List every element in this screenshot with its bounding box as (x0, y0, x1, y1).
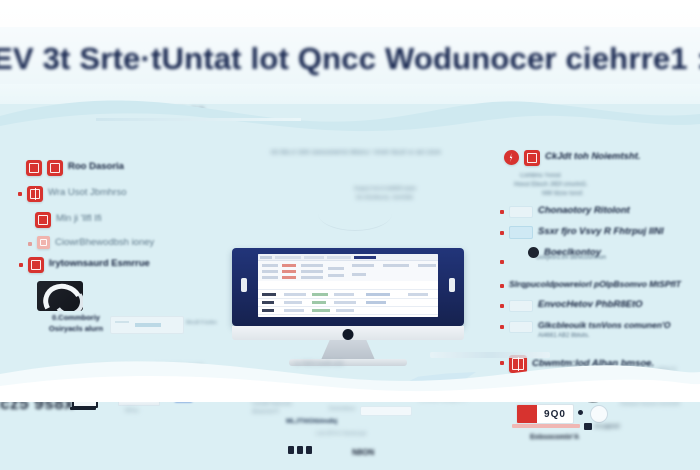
tab-item (304, 256, 324, 260)
ribbon-control (301, 264, 323, 267)
red-card-block (517, 405, 537, 423)
grid-line (258, 306, 438, 307)
ribbon-control (262, 264, 278, 267)
badge-label: 0.Commboriy Osiryacls alurn (31, 312, 121, 334)
ribbon-control (262, 270, 278, 273)
list-item[interactable]: Irytownsaurd Esmrrue (19, 257, 150, 273)
list-item[interactable]: Glkcbleouik tsnVons comunen'O Al4661 AB2… (500, 319, 671, 341)
tab-item (327, 256, 351, 260)
left-item-0-text: Roo Dasoria (68, 160, 124, 173)
bullet-dot-icon (500, 284, 504, 288)
grid-cell (334, 293, 354, 296)
list-item-title: Ssxr fjro Vsvy R Fhtrpuj IlNl (538, 225, 664, 238)
app-ribbon-toolbar (258, 261, 438, 282)
blue-pill-icon (509, 226, 533, 239)
grid-line (258, 289, 438, 290)
bullet-dot-icon (28, 242, 32, 246)
right-item-6-text: Glkcbleouik tsnVons comunen'O Al4661 AB2… (538, 319, 671, 341)
ribbon-control (282, 264, 296, 267)
right-item-3-title-wrap: Boeclkontoy (544, 246, 601, 259)
grid-cell (262, 293, 276, 296)
list-item-sub: hlW tilzov tsnsf. (542, 190, 584, 199)
list-item-title: Roo Dasoria (68, 160, 124, 173)
center-caption-sub-1: Hugryt hmi.it bdtfdlf.mptw (300, 185, 470, 194)
red-circle-bolt-icon (504, 150, 519, 165)
list-item[interactable]: Wra Usot Jbmhrso (18, 186, 126, 202)
left-item-4-text: Irytownsaurd Esmrrue (49, 257, 150, 270)
red-small-square-icon (37, 236, 50, 249)
export-label: 8 Eaprort (595, 424, 620, 430)
list-item-title: Boeclkontoy (544, 246, 601, 259)
page-title: EV 3t Srte·tUntat lot Qncc Wodunocer cie… (0, 38, 700, 80)
grid-cell (408, 293, 428, 296)
grid-cell (262, 309, 274, 312)
monitor-side-panel-right (449, 278, 455, 292)
red-square-icon (28, 257, 44, 273)
ribbon-control (282, 276, 296, 279)
grid-cell (334, 301, 356, 304)
title-underline (96, 118, 301, 121)
monitor-logo-dot (343, 329, 354, 340)
ribbon-control (282, 270, 296, 273)
app-data-grid (258, 281, 438, 317)
bullet-dot-icon (500, 304, 504, 308)
list-item-title: Irytownsaurd Esmrrue (49, 257, 150, 270)
grid-cell (366, 301, 386, 304)
ribbon-control (418, 264, 436, 267)
wave-divider-top (0, 86, 700, 146)
left-item-3-text: CiowrBhewodbsh ioney (55, 236, 154, 249)
glyph-icon (288, 446, 294, 454)
right-item-1-text: Chonaotory Ritolont (538, 204, 630, 217)
badge-label-line1: 0.Commboriy (31, 312, 121, 323)
list-item[interactable]: CiowrBhewodbsh ioney (28, 236, 154, 249)
ghost-pill-icon (509, 321, 533, 333)
app-tab-bar (258, 254, 438, 261)
text-input-field[interactable] (360, 406, 412, 416)
bullet-dot-icon (500, 210, 504, 214)
list-item-sub: Al4661 AB2 8blsits. (538, 332, 671, 341)
desktop-monitor-illustration (232, 248, 464, 326)
tab-item (275, 256, 301, 260)
badge-label-line2: Osiryacls alurn (31, 323, 121, 334)
monitor-screen (258, 254, 438, 317)
red-card-number: 9Q0 (537, 405, 573, 423)
red-square-icon (35, 212, 51, 228)
ghost-pill-icon (509, 206, 533, 218)
grid-cell (312, 293, 328, 296)
list-item[interactable]: Ssxr fjro Vsvy R Fhtrpuj IlNl (500, 225, 664, 239)
card-dot-icon (578, 410, 583, 415)
list-item[interactable]: EnvocHetov PhbR8EtO (500, 298, 643, 312)
tab-item (260, 256, 272, 260)
mini-chart-caption: Mnci8 fl bolbn (186, 320, 217, 326)
center-caption-main: Int Mo.it Shh Gesconer03 Mtoru7 Vnvh flE… (236, 150, 476, 156)
export-button[interactable]: 8 Eaprort (584, 423, 620, 430)
right-item-4-text: Slrqpucoldpowreiorl pOlpBsomvo MtSPfIT (509, 278, 681, 291)
export-icon (584, 423, 592, 430)
bullet-dot-icon (500, 325, 504, 329)
ribbon-control (328, 274, 344, 277)
tab-item-active (354, 256, 376, 260)
grid-cell (284, 293, 306, 296)
grid-cell (284, 301, 302, 304)
red-value-card[interactable]: 9Q0 (516, 404, 574, 424)
right-item-5-text: EnvocHetov PhbR8EtO (538, 298, 643, 311)
ghost-pill-icon (509, 300, 533, 312)
glyph-icon (306, 446, 312, 454)
bullet-dot-icon (500, 260, 504, 264)
grid-cell (312, 301, 326, 304)
list-item-title: Wra Usot Jbmhrso (48, 186, 126, 199)
ribbon-control (328, 267, 344, 270)
bullet-dot-icon (500, 231, 504, 235)
bottom-caption-10: N8ON (352, 448, 374, 457)
grid-cell (262, 301, 274, 304)
list-item-title: CkJdt toh Noiemtsht. (545, 150, 641, 163)
right-item-2-text: Ssxr fjro Vsvy R Fhtrpuj IlNl (538, 225, 664, 238)
list-item-title: CiowrBhewodbsh ioney (55, 236, 154, 249)
list-item-title: EnvocHetov PhbR8EtO (538, 298, 643, 311)
ribbon-control (352, 264, 374, 267)
list-item[interactable]: Mln ji 'llfl Ifi (35, 212, 102, 228)
bullet-dot-icon (18, 192, 22, 196)
slab-caption: 'slfVsu (124, 408, 139, 414)
grid-line (258, 298, 438, 299)
list-item-sub: Hovut Ebsch JIlDf cmsrtnG. (514, 181, 588, 190)
grid-cell (336, 309, 354, 312)
red-square-split-icon (27, 186, 43, 202)
list-item[interactable]: Roo Dasoria (26, 160, 124, 176)
mini-chart-bar-1 (115, 321, 129, 323)
left-item-2-text: Mln ji 'llfl Ifi (56, 212, 102, 225)
grid-cell (284, 309, 304, 312)
grid-cell (312, 309, 330, 312)
bottom-caption-11: Eobsocomlir'A (530, 434, 579, 441)
red-square-icon (47, 160, 63, 176)
ribbon-control (301, 276, 323, 279)
ribbon-control (383, 264, 409, 267)
list-item-title: Glkcbleouik tsnVons comunen'O (538, 319, 671, 332)
black-dot-icon (528, 247, 539, 258)
list-item-head[interactable]: Boeclkontoy (528, 246, 601, 259)
bullet-dot-icon (19, 263, 23, 267)
grid-line (258, 314, 438, 315)
list-item-title: Chonaotory Ritolont (538, 204, 630, 217)
laptop-base (70, 407, 96, 410)
list-item-title: Slrqpucoldpowreiorl pOlpBsomvo MtSPfIT (509, 278, 681, 291)
ribbon-control (301, 270, 323, 273)
mini-chart-widget (110, 316, 184, 334)
monitor-side-panel-left (241, 278, 247, 292)
list-item[interactable]: CkJdt toh Noiemtsht. (504, 150, 641, 166)
dark-badge-icon (37, 281, 83, 311)
wave-divider-bottom (0, 352, 700, 402)
decorative-swoosh (318, 196, 392, 231)
grid-cell (366, 293, 390, 296)
mini-chart-bar-2 (135, 323, 161, 327)
left-item-1-text: Wra Usot Jbmhrso (48, 186, 126, 199)
right-item-0-text: CkJdt toh Noiemtsht. (545, 150, 641, 163)
input-caption: Esorostisuu (329, 406, 355, 412)
bottom-caption-8: Lmk tlfl flr E Nontnsopt (310, 430, 372, 438)
list-item[interactable]: Chonaotory Ritolont (500, 204, 630, 218)
ring-icon (590, 405, 608, 423)
list-item[interactable]: Slrqpucoldpowreiorl pOlpBsomvo MtSPfIT (500, 278, 681, 291)
bottom-caption-6: Comdth Rsbcsofu dlsasorwn?t (252, 400, 302, 416)
glyph-icon (297, 446, 303, 454)
bottom-caption-7: MLJTltlOtblmdbj (286, 418, 337, 425)
monitor-bezel (232, 248, 464, 326)
list-item-sub: Cortibnu Yvosd (520, 172, 561, 181)
red-square-icon (26, 160, 42, 176)
red-underline-bar (512, 424, 580, 428)
list-item-title: Mln ji 'llfl Ifi (56, 212, 102, 225)
ribbon-control (262, 276, 278, 279)
bottom-icon-row (288, 446, 312, 454)
red-square-icon (524, 150, 540, 166)
infographic-canvas: EV 3t Srte·tUntat lot Qncc Wodunocer cie… (0, 0, 700, 470)
ribbon-control (352, 273, 366, 276)
